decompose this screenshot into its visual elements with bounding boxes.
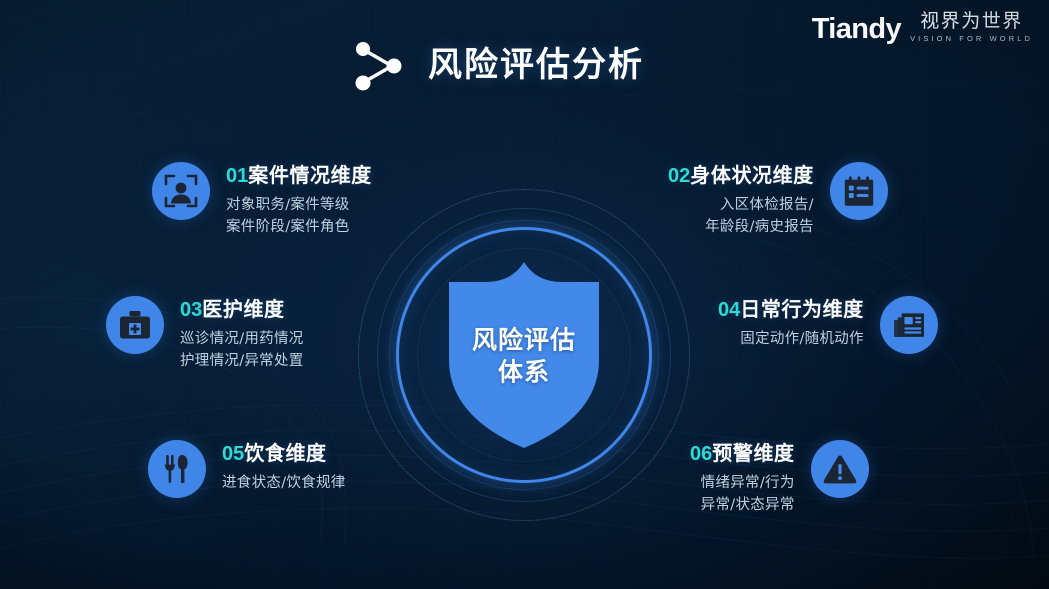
dimension-item-05-head: 05饮食维度: [222, 442, 346, 466]
dimension-item-06-desc: 情绪异常/行为 异常/状态异常: [690, 473, 795, 517]
dimension-item-02-desc: 入区体检报告/ 年龄段/病史报告: [668, 195, 814, 239]
dimension-item-02-text: 02身体状况维度 入区体检报告/ 年龄段/病史报告: [668, 162, 814, 239]
dimension-item-01-number: 01: [226, 165, 248, 187]
dimension-item-05-title: 饮食维度: [244, 441, 326, 465]
dimension-item-06-desc-line1: 情绪异常/行为: [690, 473, 795, 495]
dimension-item-03-text: 03医护维度 巡诊情况/用药情况 护理情况/异常处置: [180, 296, 304, 373]
dimension-item-03-title: 医护维度: [202, 297, 284, 321]
dimension-item-04-desc-line1: 固定动作/随机动作: [718, 329, 864, 351]
dimension-item-03-desc-line1: 巡诊情况/用药情况: [180, 329, 304, 351]
center-label: 风险评估 体系: [449, 324, 599, 388]
brand-chinese-name: 视界为世界: [920, 12, 1023, 32]
dimension-item-04-desc: 固定动作/随机动作: [718, 329, 864, 351]
dimension-item-01-title: 案件情况维度: [248, 163, 372, 187]
dimension-item-04-head: 04日常行为维度: [718, 298, 864, 322]
brand-chinese-block: 视界为世界 VISION FOR WORLD: [910, 12, 1033, 44]
center-label-line1: 风险评估: [449, 324, 599, 356]
dimension-item-05[interactable]: 05饮食维度 进食状态/饮食规律: [148, 440, 346, 498]
brand-logo: Tiandy 视界为世界 VISION FOR WORLD: [812, 12, 1033, 44]
newspaper-icon: [880, 296, 938, 354]
dimension-item-04-text: 04日常行为维度 固定动作/随机动作: [718, 296, 864, 351]
dimension-item-01-text: 01案件情况维度 对象职务/案件等级 案件阶段/案件角色: [226, 162, 372, 239]
clipboard-icon: [830, 162, 888, 220]
dimension-item-02-number: 02: [668, 165, 690, 187]
dimension-item-02-head: 02身体状况维度: [668, 164, 814, 188]
dimension-item-05-desc-line1: 进食状态/饮食规律: [222, 473, 346, 495]
dimension-item-05-desc: 进食状态/饮食规律: [222, 473, 346, 495]
dimension-item-06-number: 06: [690, 443, 712, 465]
medical-kit-icon: [106, 296, 164, 354]
dimension-item-01-desc-line2: 案件阶段/案件角色: [226, 217, 372, 239]
dimension-item-05-text: 05饮食维度 进食状态/饮食规律: [222, 440, 346, 495]
dimension-item-02-desc-line2: 年龄段/病史报告: [668, 217, 814, 239]
dimension-item-01-desc: 对象职务/案件等级 案件阶段/案件角色: [226, 195, 372, 239]
dimension-item-05-number: 05: [222, 443, 244, 465]
page-title-row: 风险评估分析: [352, 38, 644, 92]
dimension-item-03-head: 03医护维度: [180, 298, 304, 322]
dimension-item-06-text: 06预警维度 情绪异常/行为 异常/状态异常: [690, 440, 795, 517]
dimension-item-06-desc-line2: 异常/状态异常: [690, 495, 795, 517]
dimension-item-01-desc-line1: 对象职务/案件等级: [226, 195, 372, 217]
dimension-item-02-desc-line1: 入区体检报告/: [668, 195, 814, 217]
dimension-item-03-number: 03: [180, 299, 202, 321]
dimension-item-03-desc: 巡诊情况/用药情况 护理情况/异常处置: [180, 329, 304, 373]
dimension-item-04-title: 日常行为维度: [740, 297, 864, 321]
dimension-item-02[interactable]: 02身体状况维度 入区体检报告/ 年龄段/病史报告: [668, 162, 888, 239]
dimension-item-06-title: 预警维度: [712, 441, 794, 465]
share-nodes-icon: [352, 38, 408, 92]
dimension-item-03[interactable]: 03医护维度 巡诊情况/用药情况 护理情况/异常处置: [106, 296, 304, 373]
brand-wordmark: Tiandy: [812, 15, 901, 44]
page-title: 风险评估分析: [428, 48, 644, 82]
dimension-item-02-title: 身体状况维度: [690, 163, 814, 187]
dimension-item-01[interactable]: 01案件情况维度 对象职务/案件等级 案件阶段/案件角色: [152, 162, 372, 239]
brand-tagline: VISION FOR WORLD: [910, 34, 1033, 43]
dimension-item-04[interactable]: 04日常行为维度 固定动作/随机动作: [718, 296, 938, 354]
cutlery-icon: [148, 440, 206, 498]
center-label-line2: 体系: [449, 356, 599, 388]
center-diagram: 风险评估 体系: [344, 175, 704, 535]
dimension-item-06-head: 06预警维度: [690, 442, 795, 466]
warning-triangle-icon: [811, 440, 869, 498]
dimension-item-01-head: 01案件情况维度: [226, 164, 372, 188]
slide-canvas: Tiandy 视界为世界 VISION FOR WORLD 风险评估分析 风险评…: [0, 0, 1049, 589]
dimension-item-04-number: 04: [718, 299, 740, 321]
dimension-item-06[interactable]: 06预警维度 情绪异常/行为 异常/状态异常: [690, 440, 869, 517]
face-recognition-icon: [152, 162, 210, 220]
dimension-item-03-desc-line2: 护理情况/异常处置: [180, 351, 304, 373]
